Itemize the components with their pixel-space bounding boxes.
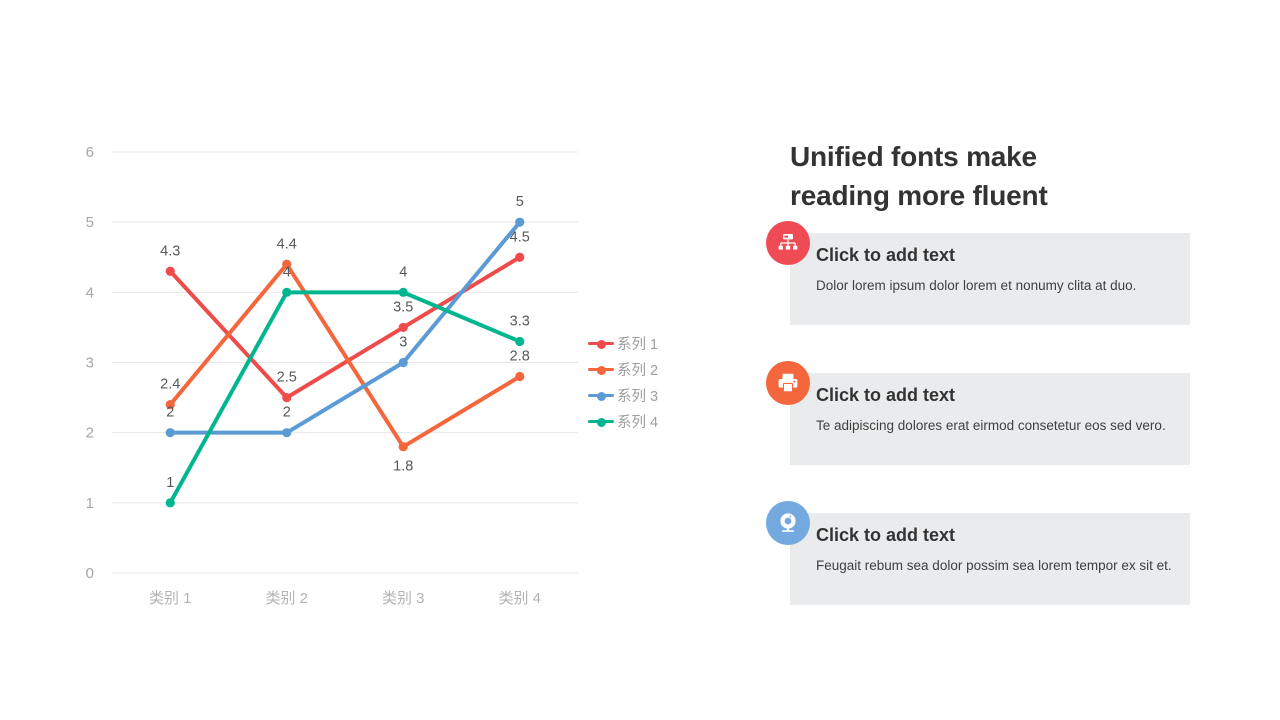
slide-canvas: 0123456 4.32.53.54.52.44.41.82.822351443… <box>0 0 1280 720</box>
legend-item[interactable]: 系列 1 <box>588 330 658 356</box>
x-axis-category-label: 类别 3 <box>382 590 425 607</box>
chart-x-axis-labels: 类别 1类别 2类别 3类别 4 <box>149 590 541 607</box>
series-data-point[interactable] <box>282 288 291 297</box>
series-data-point[interactable] <box>515 337 524 346</box>
data-point-label: 1.8 <box>393 459 413 475</box>
legend-marker-icon <box>588 362 614 376</box>
y-axis-tick-label: 5 <box>86 214 94 231</box>
chart-data-labels: 4.32.53.54.52.44.41.82.822351443.3 <box>160 194 530 491</box>
data-point-label: 2 <box>166 405 174 421</box>
legend-item[interactable]: 系列 2 <box>588 356 658 382</box>
series-data-point[interactable] <box>399 288 408 297</box>
card-body-text[interactable]: Dolor lorem ipsum dolor lorem et nonumy … <box>816 275 1172 297</box>
legend-item[interactable]: 系列 4 <box>588 408 658 434</box>
printer-icon <box>776 371 800 395</box>
webcam-icon <box>776 511 800 535</box>
legend-label: 系列 3 <box>617 385 658 406</box>
card-body-text[interactable]: Te adipiscing dolores erat eirmod conset… <box>816 415 1172 437</box>
y-axis-tick-label: 4 <box>86 284 94 301</box>
y-axis-tick-label: 3 <box>86 355 94 372</box>
chart-y-axis-labels: 0123456 <box>86 144 94 582</box>
data-point-label: 2.8 <box>510 349 530 365</box>
series-data-point[interactable] <box>515 372 524 381</box>
series-data-point[interactable] <box>515 253 524 262</box>
y-axis-tick-label: 1 <box>86 495 94 512</box>
data-point-label: 3 <box>399 335 407 351</box>
card-body-text[interactable]: Feugait rebum sea dolor possim sea lorem… <box>816 555 1172 577</box>
series-data-point[interactable] <box>515 218 524 227</box>
legend-label: 系列 1 <box>617 333 658 354</box>
card-title[interactable]: Click to add text <box>816 245 1172 266</box>
series-data-point[interactable] <box>166 428 175 437</box>
card-icon-badge <box>766 361 810 405</box>
chart-legend[interactable]: 系列 1系列 2系列 3系列 4 <box>588 330 658 434</box>
series-data-point[interactable] <box>282 393 291 402</box>
series-data-point[interactable] <box>166 498 175 507</box>
x-axis-category-label: 类别 1 <box>149 590 192 607</box>
line-chart[interactable]: 0123456 4.32.53.54.52.44.41.82.822351443… <box>0 0 700 720</box>
x-axis-category-label: 类别 2 <box>265 590 308 607</box>
data-point-label: 2.4 <box>160 377 180 393</box>
card-title[interactable]: Click to add text <box>816 385 1172 406</box>
card-title[interactable]: Click to add text <box>816 525 1172 546</box>
data-point-label: 4.3 <box>160 243 180 259</box>
y-axis-tick-label: 0 <box>86 565 94 582</box>
data-point-label: 2 <box>283 405 291 421</box>
page-title: Unified fonts make reading more fluent <box>790 138 1190 215</box>
data-point-label: 4.4 <box>277 236 297 252</box>
series-line[interactable] <box>170 257 520 397</box>
data-point-label: 4.5 <box>510 229 530 245</box>
series-data-point[interactable] <box>399 323 408 332</box>
right-content-panel: Unified fonts make reading more fluent C… <box>790 138 1190 605</box>
series-data-point[interactable] <box>399 442 408 451</box>
data-point-label: 4 <box>399 264 407 280</box>
data-point-label: 3.5 <box>393 299 413 315</box>
legend-item[interactable]: 系列 3 <box>588 382 658 408</box>
data-point-label: 4 <box>283 264 291 280</box>
data-point-label: 1 <box>166 475 174 491</box>
data-point-label: 3.3 <box>510 313 530 329</box>
legend-marker-icon <box>588 336 614 350</box>
org-chart-icon <box>776 231 800 255</box>
series-data-point[interactable] <box>282 428 291 437</box>
content-card[interactable]: Click to add textDolor lorem ipsum dolor… <box>790 233 1190 325</box>
legend-marker-icon <box>588 388 614 402</box>
legend-label: 系列 2 <box>617 359 658 380</box>
content-card[interactable]: Click to add textFeugait rebum sea dolor… <box>790 513 1190 605</box>
content-card[interactable]: Click to add textTe adipiscing dolores e… <box>790 373 1190 465</box>
series-data-point[interactable] <box>166 267 175 276</box>
y-axis-tick-label: 6 <box>86 144 94 161</box>
card-list: Click to add textDolor lorem ipsum dolor… <box>790 233 1190 605</box>
card-icon-badge <box>766 221 810 265</box>
data-point-label: 2.5 <box>277 370 297 386</box>
card-icon-badge <box>766 501 810 545</box>
legend-label: 系列 4 <box>617 411 658 432</box>
data-point-label: 5 <box>516 194 524 210</box>
legend-marker-icon <box>588 414 614 428</box>
series-data-point[interactable] <box>399 358 408 367</box>
x-axis-category-label: 类别 4 <box>498 590 541 607</box>
y-axis-tick-label: 2 <box>86 425 94 442</box>
